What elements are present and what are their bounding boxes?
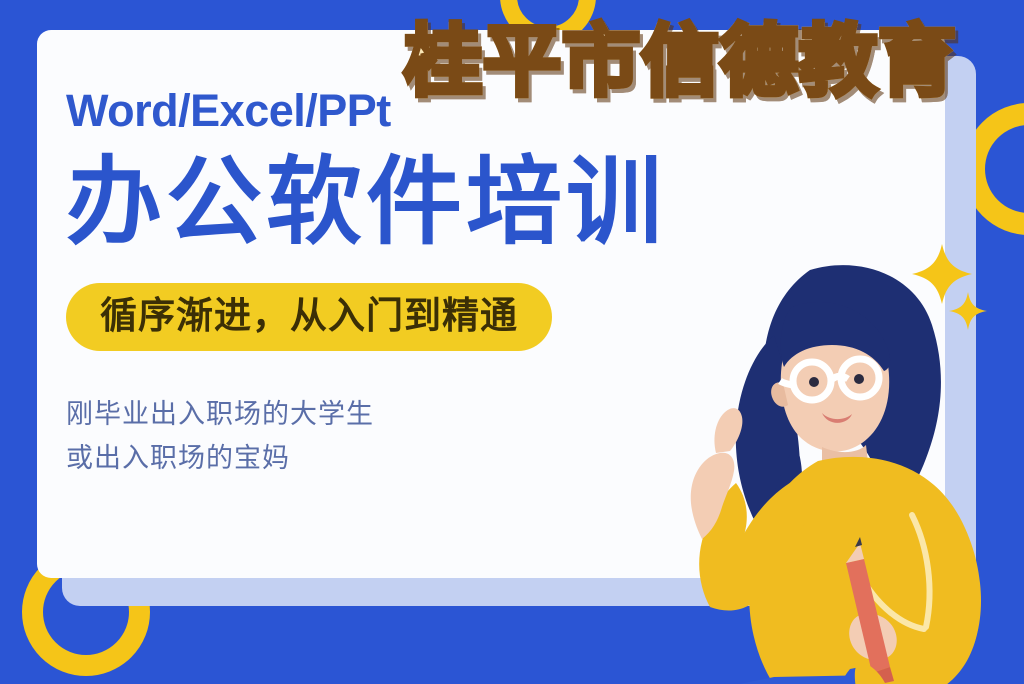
sparkle-decorations xyxy=(900,242,1000,332)
poster-canvas: 桂平市信德教育 Word/Excel/PPt 办公软件培训 循序渐进，从入门到精… xyxy=(0,0,1024,684)
page-title: 办公软件培训 xyxy=(66,149,746,257)
audience-block: 刚毕业出入职场的大学生 或出入职场的宝妈 xyxy=(66,393,746,480)
headline-block: Word/Excel/PPt 办公软件培训 循序渐进，从入门到精通 刚毕业出入职… xyxy=(66,88,746,481)
sparkle-large-icon xyxy=(912,244,972,304)
sparkle-small-icon xyxy=(949,292,987,330)
tagline-badge: 循序渐进，从入门到精通 xyxy=(66,283,552,352)
audience-line-1: 刚毕业出入职场的大学生 xyxy=(66,393,746,437)
subtitle-english: Word/Excel/PPt xyxy=(66,88,746,133)
audience-line-2: 或出入职场的宝妈 xyxy=(66,437,746,481)
